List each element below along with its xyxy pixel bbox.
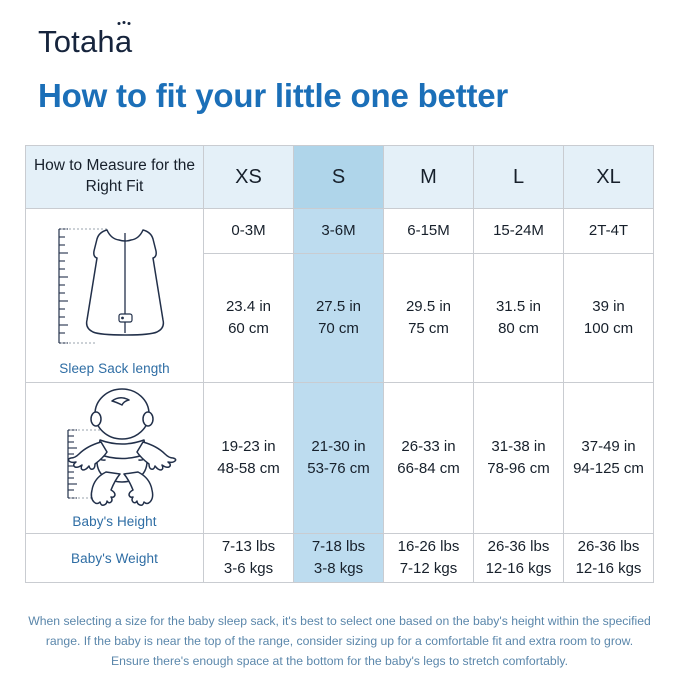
brand-umlaut-letter: a	[115, 26, 132, 57]
weight-value-s: 7-18 lbs3-8 kgs	[294, 534, 384, 583]
table-row-baby-height: Baby's Height 19-23 in48-58 cm 21-30 in5…	[26, 383, 654, 534]
weight-value-xs: 7-13 lbs3-6 kgs	[204, 534, 294, 583]
age-value-m: 6-15M	[384, 209, 474, 254]
length-value-m: 29.5 in75 cm	[384, 254, 474, 383]
brand-logo: Totaha	[38, 26, 132, 57]
height-value-m: 26-33 in66-84 cm	[384, 383, 474, 534]
weight-value-xl: 26-36 lbs12-16 kgs	[564, 534, 654, 583]
baby-weight-label: Baby's Weight	[26, 534, 204, 583]
size-header-l: L	[474, 146, 564, 209]
table-row-age: Sleep Sack length 0-3M 3-6M 6-15M 15-24M…	[26, 209, 654, 254]
length-value-xs: 23.4 in60 cm	[204, 254, 294, 383]
age-value-l: 15-24M	[474, 209, 564, 254]
size-header-xl: XL	[564, 146, 654, 209]
sleep-sack-caption: Sleep Sack length	[59, 361, 170, 376]
weight-value-l: 26-36 lbs12-16 kgs	[474, 534, 564, 583]
length-value-l: 31.5 in80 cm	[474, 254, 564, 383]
weight-value-m: 16-26 lbs7-12 kgs	[384, 534, 474, 583]
size-header-m: M	[384, 146, 474, 209]
sleep-sack-illustration-cell: Sleep Sack length	[26, 209, 204, 383]
brand-name-lead: Totah	[38, 24, 115, 59]
height-value-xl: 37-49 in94-125 cm	[564, 383, 654, 534]
sleep-sack-icon	[35, 215, 195, 357]
height-value-xs: 19-23 in48-58 cm	[204, 383, 294, 534]
size-chart-table: How to Measure for the Right Fit XS S M …	[25, 145, 654, 583]
size-header-xs: XS	[204, 146, 294, 209]
length-value-xl: 39 in100 cm	[564, 254, 654, 383]
table-corner-label: How to Measure for the Right Fit	[26, 146, 204, 209]
baby-height-caption: Baby's Height	[72, 514, 156, 529]
table-row-baby-weight: Baby's Weight 7-13 lbs3-6 kgs 7-18 lbs3-…	[26, 534, 654, 583]
age-value-s: 3-6M	[294, 209, 384, 254]
page-title: How to fit your little one better	[38, 78, 508, 114]
baby-icon	[34, 388, 196, 510]
length-value-s: 27.5 in70 cm	[294, 254, 384, 383]
table-header-row: How to Measure for the Right Fit XS S M …	[26, 146, 654, 209]
age-value-xs: 0-3M	[204, 209, 294, 254]
size-header-s: S	[294, 146, 384, 209]
age-value-xl: 2T-4T	[564, 209, 654, 254]
height-value-l: 31-38 in78-96 cm	[474, 383, 564, 534]
baby-illustration-cell: Baby's Height	[26, 383, 204, 534]
sizing-note: When selecting a size for the baby sleep…	[26, 612, 653, 671]
height-value-s: 21-30 in53-76 cm	[294, 383, 384, 534]
size-chart-page: Totaha How to fit your little one better…	[0, 0, 679, 679]
